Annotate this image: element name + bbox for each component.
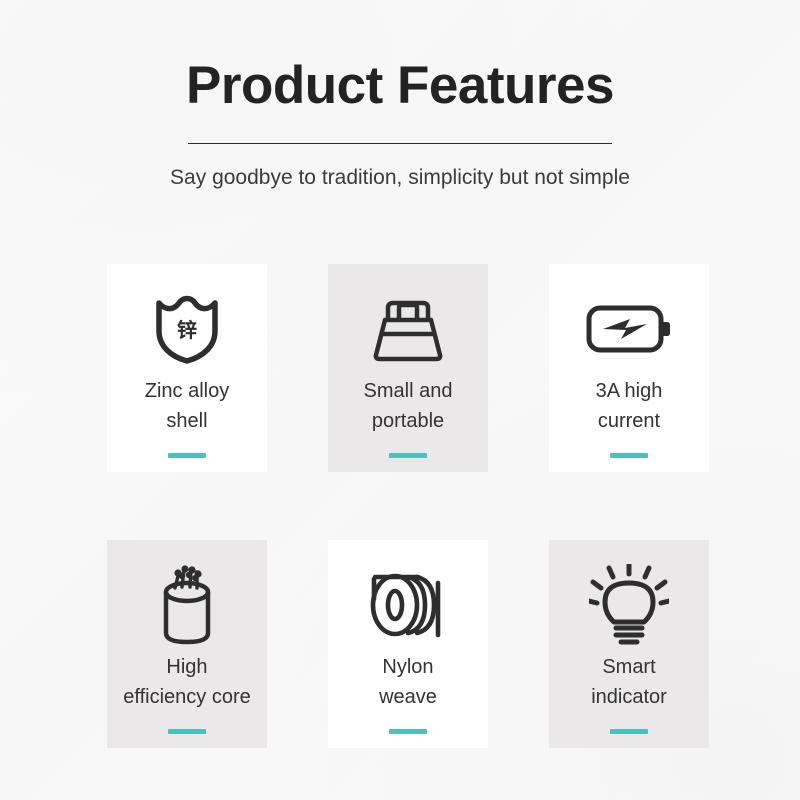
feature-card-3a-high-current[interactable]: 3A high current xyxy=(549,264,709,472)
feature-label: Zinc alloy shell xyxy=(143,376,231,436)
accent-bar xyxy=(610,453,648,458)
feature-card-high-efficiency-core[interactable]: High efficiency core xyxy=(107,540,267,748)
shield-zinc-icon: 锌 xyxy=(154,286,220,372)
feature-label: Nylon weave xyxy=(377,652,439,712)
page-header: Product Features Say goodbye to traditio… xyxy=(0,0,800,193)
feature-card-smart-indicator[interactable]: Smart indicator xyxy=(549,540,709,748)
coil-weave-icon xyxy=(368,562,448,648)
feature-card-nylon-weave[interactable]: Nylon weave xyxy=(328,540,488,748)
feature-label: 3A high current xyxy=(594,376,665,436)
handbag-icon xyxy=(368,286,448,372)
battery-bolt-icon xyxy=(585,286,673,372)
accent-bar xyxy=(389,729,427,734)
feature-label: Smart indicator xyxy=(589,652,669,712)
accent-bar xyxy=(168,453,206,458)
page-title: Product Features xyxy=(0,58,800,114)
cable-core-icon xyxy=(153,562,221,648)
header-divider xyxy=(188,143,612,144)
accent-bar xyxy=(610,729,648,734)
lightbulb-icon xyxy=(589,562,669,648)
feature-card-zinc-alloy-shell[interactable]: 锌 Zinc alloy shell xyxy=(107,264,267,472)
accent-bar xyxy=(168,729,206,734)
accent-bar xyxy=(389,453,427,458)
feature-grid: 锌 Zinc alloy shell Small and portable xyxy=(107,264,711,748)
feature-label: High efficiency core xyxy=(121,652,252,712)
feature-label: Small and portable xyxy=(362,376,455,436)
page-subtitle: Say goodbye to tradition, simplicity but… xyxy=(0,163,800,193)
svg-text:锌: 锌 xyxy=(177,318,197,342)
feature-card-small-and-portable[interactable]: Small and portable xyxy=(328,264,488,472)
